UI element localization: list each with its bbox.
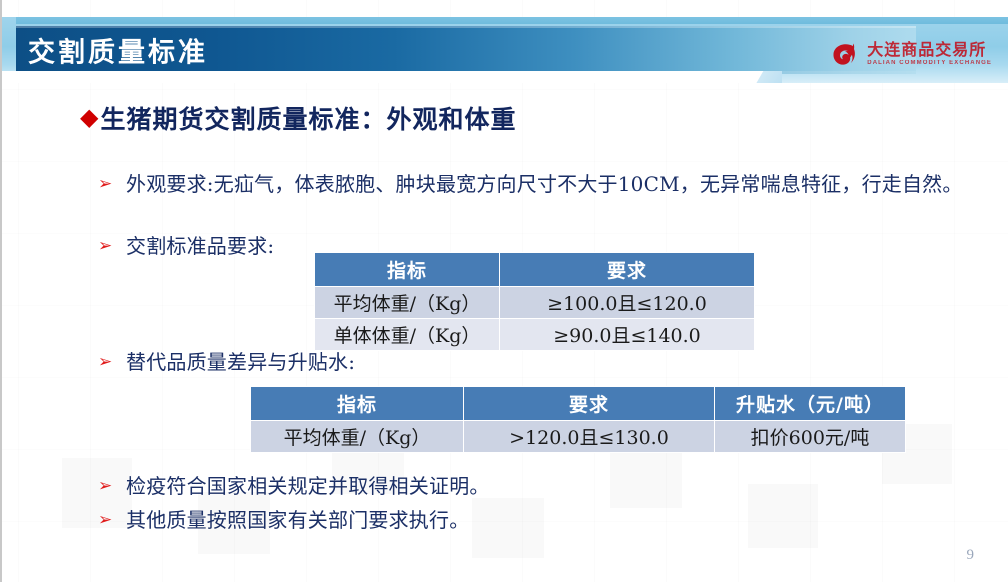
table-header-cell-requirement: 要求 xyxy=(500,253,755,287)
header-band-notch xyxy=(2,71,742,83)
standard-product-table: 指标 要求 平均体重/（Kg） ≥100.0且≤120.0 单体体重/（Kg） … xyxy=(314,252,755,351)
page-number: 9 xyxy=(967,547,975,564)
header-band-top-stripe xyxy=(16,17,1008,24)
table-cell-premium: 扣价600元/吨 xyxy=(715,421,906,453)
bullet-text: 外观要求:无疝气，体表脓胞、肿块最宽方向尺寸不大于10CM，无异常喘息特征，行走… xyxy=(126,170,963,198)
table-header-row: 指标 要求 升贴水（元/吨） xyxy=(251,387,906,421)
arrow-bullet-icon: ➢ xyxy=(98,170,126,198)
table-cell-indicator: 单体体重/（Kg） xyxy=(315,319,500,351)
table-cell-requirement: ≥90.0且≤140.0 xyxy=(500,319,755,351)
presentation-slide: 交割质量标准 大连商品交易所 DALIAN COMMODITY EXCHANGE… xyxy=(0,0,1008,582)
bullet-text: 其他质量按照国家有关部门要求执行。 xyxy=(126,506,469,534)
table-cell-requirement: ≥100.0且≤120.0 xyxy=(500,287,755,319)
section-heading: ◆ 生猪期货交割质量标准：外观和体重 xyxy=(80,100,516,136)
arrow-bullet-icon: ➢ xyxy=(98,348,126,376)
table-cell-requirement: >120.0且≤130.0 xyxy=(464,421,715,453)
table-header-cell-premium: 升贴水（元/吨） xyxy=(715,387,906,421)
table-header-cell-requirement: 要求 xyxy=(464,387,715,421)
bullet-text: 替代品质量差异与升贴水: xyxy=(126,348,355,376)
table-row: 平均体重/（Kg） ≥100.0且≤120.0 xyxy=(315,287,755,319)
bullet-item-other-quality-requirement: ➢ 其他质量按照国家有关部门要求执行。 xyxy=(98,506,469,534)
bullet-item-quarantine-requirement: ➢ 检疫符合国家相关规定并取得相关证明。 xyxy=(98,472,490,500)
table-cell-indicator: 平均体重/（Kg） xyxy=(315,287,500,319)
arrow-bullet-icon: ➢ xyxy=(98,472,126,500)
bullet-item-appearance-requirement: ➢ 外观要求:无疝气，体表脓胞、肿块最宽方向尺寸不大于10CM，无异常喘息特征，… xyxy=(98,170,978,198)
table-header-cell-indicator: 指标 xyxy=(315,253,500,287)
dce-logo-text: 大连商品交易所 DALIAN COMMODITY EXCHANGE xyxy=(867,42,992,66)
header-band-notch-bevel xyxy=(742,71,782,83)
section-heading-text: 生猪期货交割质量标准：外观和体重 xyxy=(100,100,516,136)
diamond-bullet-icon: ◆ xyxy=(80,106,98,130)
arrow-bullet-icon: ➢ xyxy=(98,232,126,260)
dce-logo-name-cn: 大连商品交易所 xyxy=(867,42,992,58)
bullet-text: 交割标准品要求: xyxy=(126,232,274,260)
table-row: 平均体重/（Kg） >120.0且≤130.0 扣价600元/吨 xyxy=(251,421,906,453)
bullet-text: 检疫符合国家相关规定并取得相关证明。 xyxy=(126,472,490,500)
dce-logo-name-en: DALIAN COMMODITY EXCHANGE xyxy=(867,60,992,66)
bullet-item-substitute-quality-premium: ➢ 替代品质量差异与升贴水: xyxy=(98,348,355,376)
table-header-cell-indicator: 指标 xyxy=(251,387,464,421)
substitute-premium-table: 指标 要求 升贴水（元/吨） 平均体重/（Kg） >120.0且≤130.0 扣… xyxy=(250,386,906,453)
table-row: 单体体重/（Kg） ≥90.0且≤140.0 xyxy=(315,319,755,351)
dce-logo: 大连商品交易所 DALIAN COMMODITY EXCHANGE xyxy=(829,39,992,69)
slide-title: 交割质量标准 xyxy=(28,31,208,70)
table-header-row: 指标 要求 xyxy=(315,253,755,287)
title-bar-highlight xyxy=(16,26,916,28)
table-cell-indicator: 平均体重/（Kg） xyxy=(251,421,464,453)
bullet-item-standard-product-requirement: ➢ 交割标准品要求: xyxy=(98,232,274,260)
dce-swirl-logo-icon xyxy=(829,39,859,69)
arrow-bullet-icon: ➢ xyxy=(98,506,126,534)
slide-header: 交割质量标准 大连商品交易所 DALIAN COMMODITY EXCHANGE xyxy=(2,17,1008,83)
title-bar: 交割质量标准 xyxy=(16,26,916,74)
